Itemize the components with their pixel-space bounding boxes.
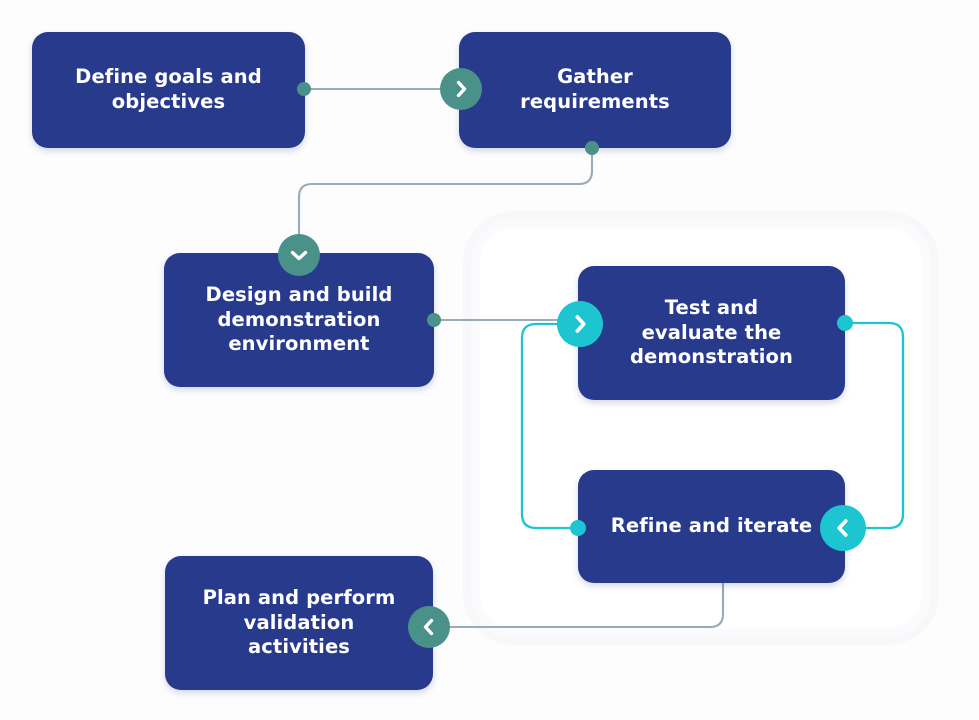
connector-dot-refine-in xyxy=(570,520,586,536)
edge-test-to-refine xyxy=(843,323,903,528)
process-box-plan-validation[interactable]: Plan and perform validation activities xyxy=(165,556,433,690)
process-box-label: Define goals and objectives xyxy=(59,61,278,118)
process-box-refine-iterate[interactable]: Refine and iterate xyxy=(578,470,845,583)
process-box-gather-requirements[interactable]: Gather requirements xyxy=(459,32,731,148)
edge-refine-to-test xyxy=(522,324,580,528)
process-box-test-evaluate[interactable]: Test and evaluate the demonstration xyxy=(578,266,845,400)
chevron-down-icon[interactable] xyxy=(278,234,320,276)
process-box-label: Design and build demonstration environme… xyxy=(190,279,409,361)
chevron-right-icon[interactable] xyxy=(440,68,482,110)
process-box-label: Gather requirements xyxy=(504,61,686,118)
process-box-label: Refine and iterate xyxy=(595,510,828,543)
chevron-left-icon[interactable] xyxy=(408,606,450,648)
connector-dot-gather-out xyxy=(585,141,599,155)
connector-dot-test-out xyxy=(837,315,853,331)
process-box-define-goals[interactable]: Define goals and objectives xyxy=(32,32,305,148)
chevron-left-icon[interactable] xyxy=(820,505,866,551)
connector-dot-design-out xyxy=(427,313,441,327)
connector-dot-define-goals-out xyxy=(297,82,311,96)
flowchart-canvas: Define goals and objectives Gather requi… xyxy=(0,0,979,720)
chevron-right-icon[interactable] xyxy=(557,301,603,347)
process-box-label: Test and evaluate the demonstration xyxy=(614,292,809,374)
process-box-label: Plan and perform validation activities xyxy=(187,582,412,664)
